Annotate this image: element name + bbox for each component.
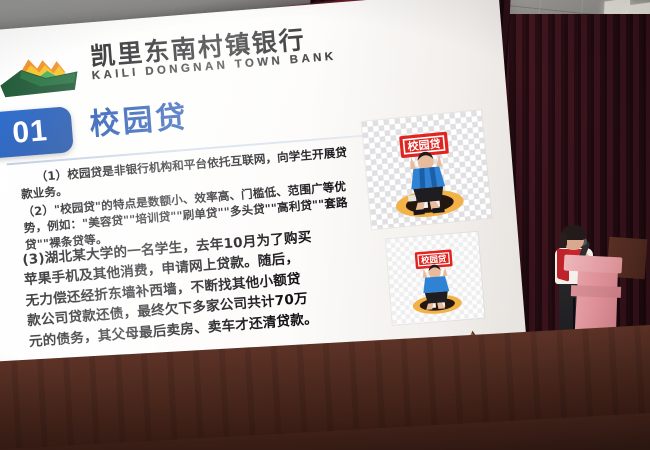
podium-band	[571, 285, 621, 298]
podium-top	[564, 254, 623, 273]
illustration-campus-loan-trap: 校园贷	[361, 110, 491, 229]
section-number-badge: 01	[0, 106, 74, 159]
illustration-figure: 校园贷	[361, 110, 491, 229]
section-title: 校园贷	[88, 101, 189, 142]
svg-text:校园贷: 校园贷	[421, 253, 448, 265]
slide-header: 凯里东南村镇银行 KAILI DONGNAN TOWN BANK	[0, 16, 417, 111]
illustration-figure: 校园贷	[386, 232, 485, 325]
section-number: 01	[11, 114, 49, 151]
bank-logo-icon	[0, 49, 83, 102]
bank-brand: 凯里东南村镇银行 KAILI DONGNAN TOWN BANK	[89, 25, 337, 83]
photo-of-auditorium-presentation: 凯里东南村镇银行 KAILI DONGNAN TOWN BANK 01 校园贷 …	[0, 0, 650, 450]
illustration-campus-loan-trap-small: 校园贷	[386, 232, 485, 325]
presenter-hair-side	[559, 232, 567, 248]
